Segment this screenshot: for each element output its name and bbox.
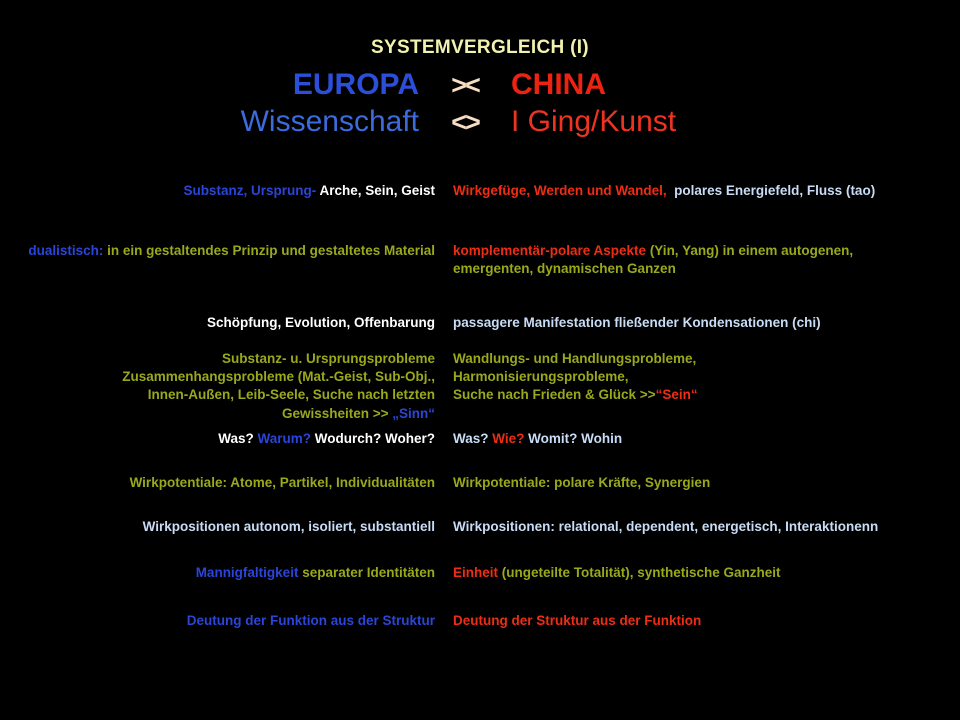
cell-text: Deutung der Funktion aus der Struktur — [0, 612, 435, 630]
table-row: Wirkpotentiale: Atome, Partikel, Individ… — [0, 474, 960, 492]
cell-text: Wirkpotentiale: Atome, Partikel, Individ… — [0, 474, 435, 492]
cell-europa: Mannigfaltigkeit separater Identitäten — [0, 564, 445, 582]
headline-right-iging: I Ging/Kunst — [511, 105, 771, 139]
text-fragment-olive: separater Identitäten — [298, 565, 435, 580]
text-fragment-white: Wodurch? Woher? — [311, 431, 435, 446]
cell-text: Einheit (ungeteilte Totalität), syntheti… — [453, 564, 905, 582]
cell-china: Wandlungs- und Handlungsprobleme, Harmon… — [445, 350, 905, 405]
text-fragment-ltblue: passagere Manifestation fließender Konde… — [453, 315, 821, 330]
table-row: Schöpfung, Evolution, Offenbarungpassage… — [0, 314, 960, 332]
text-fragment-red: Deutung der Struktur aus der Funktion — [453, 613, 701, 628]
cell-china: komplementär-polare Aspekte (Yin, Yang) … — [445, 242, 905, 278]
cell-china: passagere Manifestation fließender Konde… — [445, 314, 905, 332]
text-fragment-red: komplementär-polare Aspekte — [453, 243, 646, 258]
cell-europa: Was? Warum? Wodurch? Woher? — [0, 430, 445, 448]
text-fragment-red: Wirkgefüge, Werden und Wandel, — [453, 183, 667, 198]
slide-header: SYSTEMVERGLEICH (I) EUROPA><CHINA Wissen… — [0, 38, 960, 139]
cell-europa: Substanz- u. Ursprungsprobleme Zusammenh… — [0, 350, 445, 423]
comparison-headline-secondary: Wissenschaft<>I Ging/Kunst — [0, 105, 960, 139]
cell-china: Wirkpositionen: relational, dependent, e… — [445, 518, 905, 536]
text-fragment-ltblue: Wirkpositionen autonom, isoliert, substa… — [143, 519, 435, 534]
table-row: dualistisch: in ein gestaltendes Prinzip… — [0, 242, 960, 278]
text-fragment-blue: Substanz, Ursprung- — [183, 183, 316, 198]
table-row: Mannigfaltigkeit separater IdentitätenEi… — [0, 564, 960, 582]
cell-text: Substanz- u. Ursprungsprobleme Zusammenh… — [0, 350, 435, 423]
headline-left-wissenschaft: Wissenschaft — [189, 105, 419, 139]
cell-europa: Substanz, Ursprung- Arche, Sein, Geist — [0, 182, 445, 200]
cell-europa: Deutung der Funktion aus der Struktur — [0, 612, 445, 630]
cell-text: Was? Warum? Wodurch? Woher? — [0, 430, 435, 448]
cell-europa: Wirkpotentiale: Atome, Partikel, Individ… — [0, 474, 445, 492]
text-fragment-red: Einheit — [453, 565, 498, 580]
cell-text: Substanz, Ursprung- Arche, Sein, Geist — [0, 182, 435, 200]
cell-china: Wirkpotentiale: polare Kräfte, Synergien — [445, 474, 905, 492]
cell-text: Wirkgefüge, Werden und Wandel, polares E… — [453, 182, 905, 200]
headline-separator-diamond-icon: <> — [419, 107, 511, 137]
text-fragment-red: Wie? — [492, 431, 524, 446]
text-fragment-blue: „Sinn“ — [392, 406, 435, 421]
text-fragment-blue: Deutung der Funktion aus der Struktur — [187, 613, 435, 628]
cell-text: Schöpfung, Evolution, Offenbarung — [0, 314, 435, 332]
headline-right-china: CHINA — [511, 68, 771, 102]
cell-text: Wirkpositionen autonom, isoliert, substa… — [0, 518, 435, 536]
table-row: Substanz- u. Ursprungsprobleme Zusammenh… — [0, 350, 960, 423]
cell-europa: Wirkpositionen autonom, isoliert, substa… — [0, 518, 445, 536]
text-fragment-olive: Wirkpotentiale: Atome, Partikel, Individ… — [130, 475, 435, 490]
cell-text: Was? Wie? Womit? Wohin — [453, 430, 905, 448]
text-fragment-white: Schöpfung, Evolution, Offenbarung — [207, 315, 435, 330]
headline-separator-versus-icon: >< — [419, 70, 511, 100]
cell-text: passagere Manifestation fließender Konde… — [453, 314, 905, 332]
cell-china: Wirkgefüge, Werden und Wandel, polares E… — [445, 182, 905, 200]
text-fragment-olive: Substanz- u. Ursprungsprobleme Zusammenh… — [122, 351, 435, 421]
cell-text: Wandlungs- und Handlungsprobleme, Harmon… — [453, 350, 905, 405]
text-fragment-blue: Mannigfaltigkeit — [196, 565, 299, 580]
cell-text: Mannigfaltigkeit separater Identitäten — [0, 564, 435, 582]
text-fragment-red: “Sein“ — [656, 387, 698, 402]
text-fragment-olive: Wirkpotentiale: polare Kräfte, Synergien — [453, 475, 710, 490]
cell-text: dualistisch: in ein gestaltendes Prinzip… — [0, 242, 435, 260]
cell-china: Deutung der Struktur aus der Funktion — [445, 612, 905, 630]
cell-text: Deutung der Struktur aus der Funktion — [453, 612, 905, 630]
cell-china: Was? Wie? Womit? Wohin — [445, 430, 905, 448]
cell-text: Wirkpositionen: relational, dependent, e… — [453, 518, 905, 536]
comparison-headline-primary: EUROPA><CHINA — [0, 68, 960, 102]
cell-text: komplementär-polare Aspekte (Yin, Yang) … — [453, 242, 905, 278]
text-fragment-ltblue: Wirkpositionen: relational, dependent, e… — [453, 519, 878, 534]
table-row: Wirkpositionen autonom, isoliert, substa… — [0, 518, 960, 536]
cell-europa: dualistisch: in ein gestaltendes Prinzip… — [0, 242, 445, 260]
headline-left-europa: EUROPA — [189, 68, 419, 102]
cell-china: Einheit (ungeteilte Totalität), syntheti… — [445, 564, 905, 582]
text-fragment-olive: (ungeteilte Totalität), synthetische Gan… — [498, 565, 781, 580]
text-fragment-ltblue: polares Energiefeld, Fluss (tao) — [667, 183, 876, 198]
cell-text: Wirkpotentiale: polare Kräfte, Synergien — [453, 474, 905, 492]
text-fragment-blue: Warum? — [258, 431, 312, 446]
text-fragment-ltblue: Was? — [453, 431, 492, 446]
page-title: SYSTEMVERGLEICH (I) — [0, 38, 960, 59]
text-fragment-white: Was? — [218, 431, 257, 446]
cell-europa: Schöpfung, Evolution, Offenbarung — [0, 314, 445, 332]
text-fragment-blue: dualistisch: — [28, 243, 103, 258]
table-row: Deutung der Funktion aus der StrukturDeu… — [0, 612, 960, 630]
text-fragment-ltblue: Womit? Wohin — [524, 431, 622, 446]
text-fragment-olive: in ein gestaltendes Prinzip und gestalte… — [103, 243, 435, 258]
text-fragment-white: Arche, Sein, Geist — [316, 183, 435, 198]
table-row: Was? Warum? Wodurch? Woher?Was? Wie? Wom… — [0, 430, 960, 448]
table-row: Substanz, Ursprung- Arche, Sein, GeistWi… — [0, 182, 960, 200]
slide-canvas: SYSTEMVERGLEICH (I) EUROPA><CHINA Wissen… — [0, 0, 960, 720]
